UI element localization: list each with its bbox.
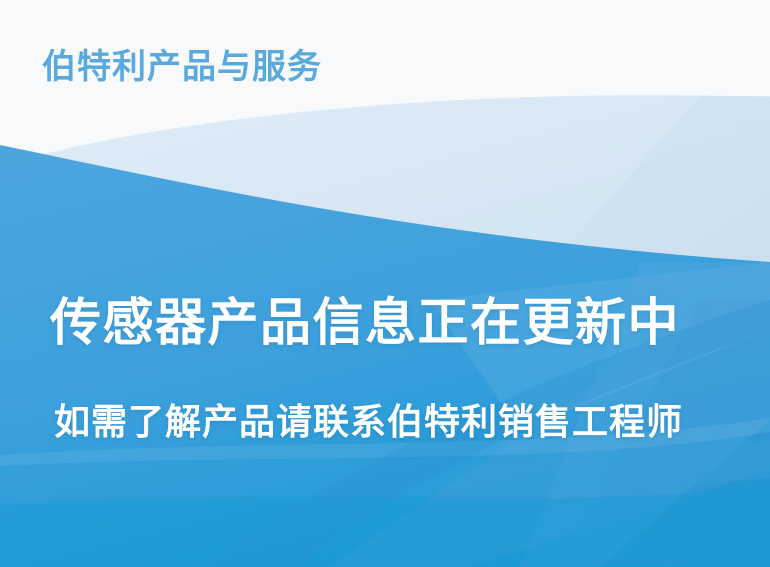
subheadline-text: 如需了解产品请联系伯特利销售工程师 — [0, 354, 770, 444]
headline-text: 传感器产品信息正在更新中 — [0, 292, 770, 354]
page-title: 伯特利产品与服务 — [42, 46, 322, 88]
message-block: 传感器产品信息正在更新中 如需了解产品请联系伯特利销售工程师 — [0, 292, 770, 444]
product-service-banner: 伯特利产品与服务 传感器产品信息正在更新中 如需了解产品请联系伯特利销售工程师 — [0, 0, 770, 567]
